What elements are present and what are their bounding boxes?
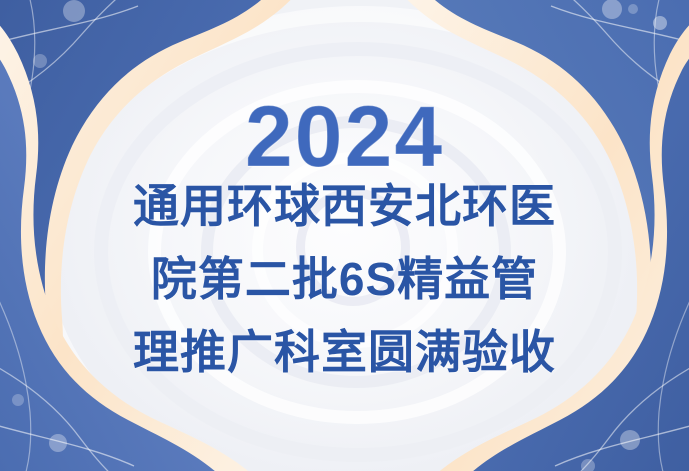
poster-year: 2024 bbox=[245, 96, 444, 179]
poster-canvas: 2024 通用环球西安北环医 院第二批6S精益管 理推广科室圆满验收 bbox=[0, 0, 689, 471]
headline-line-1: 通用环球西安北环医 bbox=[133, 183, 556, 229]
poster-text-block: 2024 通用环球西安北环医 院第二批6S精益管 理推广科室圆满验收 bbox=[0, 0, 689, 471]
headline-line-3: 理推广科室圆满验收 bbox=[133, 329, 556, 375]
headline-line-2: 院第二批6S精益管 bbox=[151, 256, 538, 302]
